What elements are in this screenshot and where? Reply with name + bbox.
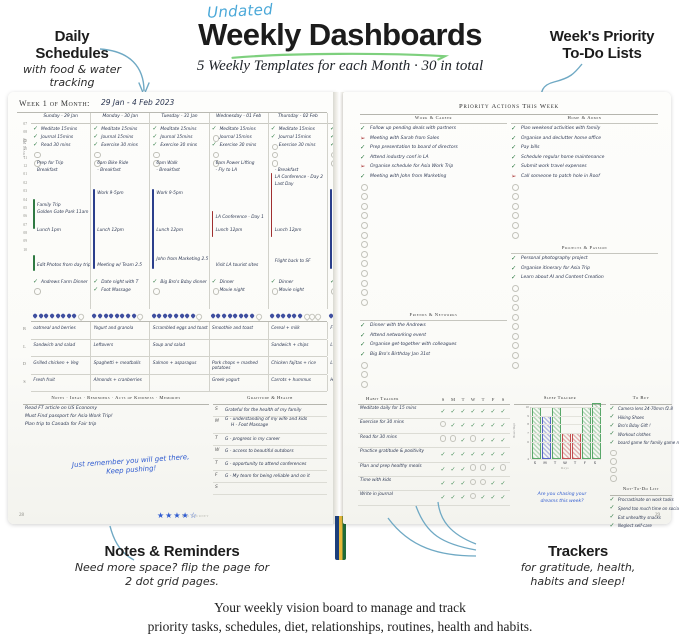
habit-check-icon[interactable]: ✓ (438, 448, 448, 461)
water-drop-icon[interactable] (211, 313, 215, 318)
empty-circle-icon[interactable] (512, 314, 519, 321)
empty-circle-icon[interactable] (512, 333, 519, 340)
page-title: Weekly Dashboards (160, 17, 520, 53)
buy-row[interactable]: ✓Procrastinate on work tasks (610, 496, 672, 505)
habit-empty-circle-icon[interactable] (448, 434, 458, 447)
habit-day-cells[interactable]: ✓✓✓✓ (438, 463, 508, 476)
habit-check-row[interactable]: ✓Journal 15mins (93, 134, 149, 142)
water-drop-icon[interactable] (233, 313, 237, 318)
water-drop-icon[interactable] (168, 313, 172, 318)
empty-circle-icon[interactable] (610, 467, 617, 474)
buy-row-empty[interactable] (610, 474, 672, 483)
habit-check-icon[interactable]: ✓ (498, 434, 508, 447)
meal-cell[interactable]: Sandwich and salad (31, 340, 90, 357)
meal-cell[interactable]: Smoothie and toast (209, 322, 268, 339)
water-drop-icon[interactable] (191, 313, 195, 318)
buy-row[interactable]: ✓Workout clothes (610, 431, 672, 440)
habit-day-cells[interactable]: ✓✓✓✓✓ (438, 477, 508, 490)
todo-row[interactable]: ✓Personal photography project (511, 254, 658, 264)
todo-row[interactable]: ✓Schedule regular home maintenance (511, 153, 658, 163)
todo-row-empty[interactable] (511, 230, 658, 240)
todo-row-empty[interactable] (511, 182, 658, 192)
habit-check-row[interactable]: ✓Meditate 15mins (152, 126, 208, 134)
habit-check-icon[interactable]: ✓ (438, 491, 448, 504)
empty-circle-icon[interactable] (512, 203, 519, 210)
habit-check-row[interactable] (212, 151, 268, 159)
water-drop-icon[interactable] (92, 313, 96, 318)
gratitude-row[interactable]: WG - access to beautiful outdoors (213, 446, 327, 458)
evening-check-row[interactable] (33, 287, 99, 295)
water-drop-icon[interactable] (50, 313, 54, 318)
gratitude-row[interactable]: TG - opportunity to attend conferences (213, 459, 327, 471)
habit-check-icon[interactable]: ✓ (498, 419, 508, 432)
todo-row[interactable]: ✓Big Bro's Birthday Jan 31st (360, 350, 507, 360)
buy-row[interactable]: ✓board game for family game night (610, 439, 672, 448)
habit-empty-circle-icon[interactable] (478, 477, 488, 490)
water-drop-icon[interactable] (115, 313, 119, 318)
habit-check-row[interactable]: ✓Meditate 15mins (212, 126, 268, 134)
todo-row-empty[interactable] (511, 302, 658, 312)
water-drop-icon[interactable] (39, 313, 43, 318)
todo-row-empty[interactable] (360, 268, 507, 278)
habit-tracker-row[interactable]: Exercise for 30 mins✓✓✓✓✓✓ (358, 419, 510, 433)
water-tracker-row[interactable] (31, 311, 327, 320)
todo-row-empty[interactable] (360, 230, 507, 240)
todo-row[interactable]: ✓Attend networking event (360, 331, 507, 341)
habit-check-row[interactable]: Journal 15mins (212, 134, 268, 142)
habit-tracker-row[interactable]: Practice gratitude & positivity✓✓✓✓✓✓✓ (358, 448, 510, 462)
todo-row[interactable]: ✓Organise and declutter home office (511, 134, 658, 144)
habit-day-cells[interactable]: ✓✓✓✓✓✓✓ (438, 448, 508, 461)
note-line[interactable]: Must Find passport for Asia Work Trip! (23, 413, 209, 421)
todo-row-empty[interactable] (360, 258, 507, 268)
habit-check-icon[interactable]: ✓ (438, 405, 448, 418)
empty-circle-icon[interactable] (512, 362, 519, 369)
habit-check-icon[interactable]: ✓ (448, 477, 458, 490)
habit-tracker-row[interactable]: Plan and prep healthy meals✓✓✓✓ (358, 463, 510, 477)
habit-check-row[interactable]: ✓Meditate 15mins (93, 126, 149, 134)
habit-check-icon[interactable]: ✓ (488, 405, 498, 418)
todo-row-empty[interactable] (511, 321, 658, 331)
todo-row-empty[interactable] (360, 369, 507, 379)
todo-row-empty[interactable] (511, 210, 658, 220)
water-drop-icon[interactable] (222, 313, 226, 318)
meal-cell[interactable]: Spaghetti + meatballs (90, 357, 149, 374)
habit-tracker-row[interactable]: Write in journal✓✓✓✓✓✓ (358, 491, 510, 505)
water-drop-icon[interactable] (255, 313, 259, 318)
habit-check-icon[interactable]: ✓ (488, 491, 498, 504)
habit-check-icon[interactable]: ✓ (458, 463, 468, 476)
habit-check-icon[interactable]: ✓ (468, 419, 478, 432)
evening-check-row[interactable]: ✓Andrews Farm Dinner (33, 279, 99, 287)
habit-check-icon[interactable]: ✓ (488, 434, 498, 447)
water-drop-icon[interactable] (120, 313, 124, 318)
empty-circle-icon[interactable] (610, 475, 617, 482)
habit-check-row[interactable]: ✓Exercise 30 mins (93, 142, 149, 150)
todo-row[interactable]: ✓Follow up pending deals with partners (360, 124, 507, 134)
todo-row[interactable]: ✓Pay bills (511, 143, 658, 153)
home-admin-list[interactable]: ✓Plan weekend activities with family✓Org… (511, 124, 658, 239)
water-drop-icon[interactable] (55, 313, 59, 318)
empty-circle-icon[interactable] (361, 184, 368, 191)
water-drop-icon[interactable] (281, 313, 285, 318)
todo-row[interactable]: ✓Submit work travel expenses (511, 162, 658, 172)
water-drop-icon[interactable] (126, 313, 130, 318)
habit-empty-circle-icon[interactable] (498, 463, 508, 476)
water-drop-icon[interactable] (292, 313, 296, 318)
meal-cell[interactable]: Sandwich + chips (268, 340, 327, 357)
habit-check-icon[interactable]: ✓ (458, 405, 468, 418)
water-drop-icon[interactable] (98, 313, 102, 318)
meal-cell[interactable] (149, 375, 208, 392)
habit-check-icon[interactable]: ✓ (478, 419, 488, 432)
meal-cell[interactable]: Scrambled eggs and toast (149, 322, 208, 339)
empty-circle-icon[interactable] (272, 152, 279, 159)
empty-circle-icon[interactable] (361, 289, 368, 296)
day-timeline[interactable]: 6am Bike Ride- BreakfastWork 9-5pmLunch … (93, 159, 150, 307)
habit-check-row[interactable]: ✓Journal 15mins (33, 134, 90, 142)
habit-check-icon[interactable]: ✓ (478, 491, 488, 504)
todo-row-empty[interactable] (511, 331, 658, 341)
habit-check-icon[interactable]: ✓ (458, 434, 468, 447)
meal-cell[interactable]: Cereal + milk (268, 322, 327, 339)
habit-empty-circle-icon[interactable] (468, 491, 478, 504)
water-drop-icon[interactable] (33, 313, 37, 318)
habit-tracker-row[interactable]: Meditate daily for 15 mins✓✓✓✓✓✓✓ (358, 405, 510, 419)
meal-cell[interactable]: Leftovers (90, 340, 149, 357)
water-drop-icon[interactable] (196, 313, 200, 318)
water-day[interactable] (31, 311, 90, 320)
buy-row-empty[interactable] (610, 448, 672, 457)
work-career-title: Work & Career (360, 115, 507, 124)
check-icon: ✓ (360, 331, 365, 341)
friends-networks-list[interactable]: ✓Dinner with the Andrews✓Attend networki… (360, 321, 507, 388)
habit-day-cells[interactable]: ✓✓✓✓ (438, 434, 508, 447)
water-drop-icon[interactable] (275, 313, 279, 318)
annotation-priority-lists: Week's Priority To-Do Lists (528, 28, 676, 62)
habit-tracker-row[interactable]: Time with kids✓✓✓✓✓ (358, 477, 510, 491)
water-drop-icon[interactable] (163, 313, 167, 318)
todo-row-empty[interactable] (511, 191, 658, 201)
not-to-do-list[interactable]: ✓Procrastinate on work tasks✓Spend too m… (610, 496, 672, 530)
habit-day-cells[interactable]: ✓✓✓✓✓✓ (438, 491, 508, 504)
water-day[interactable] (149, 311, 208, 320)
water-drop-icon[interactable] (298, 313, 302, 318)
gratitude-row[interactable]: SGrateful for the health of my family (213, 405, 327, 417)
meal-cell[interactable]: Carrots + hummus (268, 375, 327, 392)
empty-circle-icon[interactable] (512, 285, 519, 292)
habit-day-cells[interactable]: ✓✓✓✓✓✓ (438, 419, 508, 432)
todo-row-empty[interactable] (511, 350, 658, 360)
sleep-x-tick: F (580, 460, 590, 465)
habit-empty-circle-icon[interactable] (438, 419, 448, 432)
empty-circle-icon[interactable] (153, 152, 160, 159)
gratitude-row[interactable]: TG - progress in my career (213, 434, 327, 446)
meal-cell[interactable]: Salmon + asparagus (149, 357, 208, 374)
habit-empty-circle-icon[interactable] (438, 434, 448, 447)
water-drop-icon[interactable] (131, 313, 135, 318)
habit-check-icon[interactable]: ✓ (498, 448, 508, 461)
habit-check-icon[interactable]: ✓ (468, 448, 478, 461)
habit-check-icon[interactable]: ✓ (488, 419, 498, 432)
habit-check-row[interactable]: ✓Meditate 15mins (271, 126, 327, 134)
todo-row[interactable]: ✓Meeting with John from Marketing (360, 172, 507, 182)
empty-circle-icon[interactable] (213, 288, 220, 295)
water-drop-icon[interactable] (250, 313, 254, 318)
empty-circle-icon[interactable] (361, 241, 368, 248)
todo-row-empty[interactable] (360, 191, 507, 201)
empty-circle-icon[interactable] (361, 381, 368, 388)
habit-check-icon[interactable]: ✓ (448, 448, 458, 461)
habit-check-icon[interactable]: ✓ (448, 419, 458, 432)
habit-empty-circle-icon[interactable] (468, 477, 478, 490)
habit-check-row[interactable]: ✓Journal 15mins (271, 134, 327, 142)
habit-empty-circle-icon[interactable] (468, 434, 478, 447)
todo-row-empty[interactable] (360, 239, 507, 249)
meal-text: Greek yogurt (212, 377, 268, 383)
water-drop-icon[interactable] (315, 313, 319, 318)
water-drop-icon[interactable] (78, 313, 82, 318)
water-drop-icon[interactable] (270, 313, 274, 318)
todo-row[interactable]: ✓Prep presentation to board of directors (360, 143, 507, 153)
water-drop-icon[interactable] (244, 313, 248, 318)
habit-rows[interactable]: Meditate daily for 15 mins✓✓✓✓✓✓✓Exercis… (358, 405, 510, 506)
day-timeline[interactable]: 6am Power Lifting- Fly to LALA Conferenc… (212, 159, 269, 307)
empty-circle-icon[interactable] (512, 323, 519, 330)
day-timeline[interactable]: 6am Walk- BreakfastWork 9-5pmLunch 12pmJ… (152, 159, 209, 307)
todo-row-empty[interactable] (360, 249, 507, 259)
water-day[interactable] (209, 311, 268, 320)
empty-circle-icon[interactable] (361, 232, 368, 239)
note-line[interactable]: Plan trip to Canada for Fair trip (23, 421, 209, 429)
habit-check-icon[interactable]: ✓ (468, 405, 478, 418)
meal-cell[interactable]: Almonds + cranberries (90, 375, 149, 392)
todo-row-empty[interactable] (360, 278, 507, 288)
water-drop-icon[interactable] (179, 313, 183, 318)
habit-day-cells[interactable]: ✓✓✓✓✓✓✓ (438, 405, 508, 418)
timeline-event: Lunch 12pm (156, 228, 183, 234)
habit-check-row[interactable]: ✓Read 30 mins (33, 142, 90, 150)
habit-check-row[interactable]: ✓Journal 15mins (152, 134, 208, 142)
meal-cell[interactable]: Yogurt and granola (90, 322, 149, 339)
habit-check-icon[interactable]: ✓ (458, 419, 468, 432)
projects-passion-list[interactable]: ✓Personal photography project✓Organise i… (511, 254, 658, 369)
meal-cell[interactable]: Greek yogurt (209, 375, 268, 392)
empty-circle-icon[interactable] (34, 288, 41, 295)
water-day[interactable] (90, 311, 149, 320)
todo-row-empty[interactable] (360, 297, 507, 307)
day-timeline[interactable]: Prep for TripBreakfastFamily TripGolden … (33, 159, 90, 307)
todo-row-empty[interactable] (511, 312, 658, 322)
todo-row[interactable]: ✓Dinner with the Andrews (360, 321, 507, 331)
water-drop-icon[interactable] (67, 313, 71, 318)
todo-row-empty[interactable] (511, 293, 658, 303)
todo-row-empty[interactable] (511, 220, 658, 230)
todo-row-empty[interactable] (360, 210, 507, 220)
water-drop-icon[interactable] (157, 313, 161, 318)
empty-circle-icon[interactable] (512, 222, 519, 229)
todo-row[interactable]: ➢Meeting with Sarah from Sales (360, 134, 507, 144)
water-drop-icon[interactable] (109, 313, 113, 318)
water-drop-icon[interactable] (287, 313, 291, 318)
habit-check-icon[interactable]: ✓ (478, 405, 488, 418)
todo-row-empty[interactable] (360, 379, 507, 389)
buy-row[interactable]: ✓Bro's Bday Gift ! (610, 422, 672, 431)
meal-cell[interactable]: Pork chops + mashed potatoes (209, 357, 268, 374)
empty-circle-icon[interactable] (361, 270, 368, 277)
empty-circle-icon[interactable] (512, 295, 519, 302)
todo-row-empty[interactable] (360, 220, 507, 230)
todo-row-empty[interactable] (360, 182, 507, 192)
habit-check-icon[interactable]: ✓ (498, 491, 508, 504)
todo-row-empty[interactable] (360, 287, 507, 297)
habit-check-icon[interactable]: ✓ (438, 477, 448, 490)
todo-row-empty[interactable] (511, 201, 658, 211)
water-drop-icon[interactable] (227, 313, 231, 318)
timeline-event: Lunch 12pm (97, 228, 124, 234)
buy-row[interactable]: ✓Neglect self-care (610, 522, 672, 531)
todo-row[interactable]: ➢Organise schedule for Asia Work Trip (360, 162, 507, 172)
todo-row-empty[interactable] (360, 201, 507, 211)
habit-check-icon[interactable]: ✓ (498, 405, 508, 418)
empty-circle-icon[interactable] (361, 260, 368, 267)
habit-empty-circle-icon[interactable] (468, 463, 478, 476)
habit-check-icon[interactable]: ✓ (458, 491, 468, 504)
empty-circle-icon[interactable] (361, 203, 368, 210)
habit-check-icon[interactable]: ✓ (458, 448, 468, 461)
empty-circle-icon[interactable] (361, 251, 368, 258)
meal-cell[interactable]: Soup and salad (149, 340, 208, 357)
empty-circle-icon[interactable] (361, 212, 368, 219)
todo-row[interactable]: ✓Organise get-together with colleagues (360, 340, 507, 350)
empty-circle-icon[interactable] (361, 299, 368, 306)
to-buy-list[interactable]: ✓Camera lens 24-70mm f2.8✓Hiking Shoes✓B… (610, 405, 672, 482)
habit-check-icon[interactable]: ✓ (488, 448, 498, 461)
buy-row[interactable]: ✓Camera lens 24-70mm f2.8 (610, 405, 672, 414)
notes-lines[interactable]: Read FT article on US EconomyMust Find p… (23, 405, 209, 430)
habit-check-row[interactable]: ✓Meditate 15mins (33, 126, 90, 134)
empty-circle-icon[interactable] (512, 193, 519, 200)
empty-circle-icon[interactable] (512, 342, 519, 349)
work-career-list[interactable]: ✓Follow up pending deals with partners➢M… (360, 124, 507, 306)
habit-check-icon[interactable]: ✓ (448, 405, 458, 418)
meal-row-label: S (20, 379, 29, 384)
habit-check-icon[interactable]: ✓ (478, 434, 488, 447)
meal-cell[interactable] (209, 340, 268, 357)
habit-check-row[interactable]: ✓Exercise 30 mins (152, 142, 208, 150)
todo-row-empty[interactable] (360, 360, 507, 370)
empty-circle-icon[interactable] (512, 232, 519, 239)
gratitude-rows[interactable]: SGrateful for the health of my familyMG … (213, 405, 327, 495)
meal-cell[interactable]: Chicken fajitas + rice (268, 357, 327, 374)
week-date-range[interactable]: 29 Jan - 4 Feb 2023 (101, 98, 174, 107)
gratitude-row[interactable]: S (213, 483, 327, 495)
water-drop-icon[interactable] (137, 313, 141, 318)
habit-empty-circle-icon[interactable] (478, 463, 488, 476)
habit-check-icon[interactable]: ✓ (478, 448, 488, 461)
buy-row[interactable]: ✓Spend too much time on social media (610, 505, 672, 514)
habit-check-row[interactable] (152, 151, 208, 159)
habit-check-icon[interactable]: ✓ (498, 477, 508, 490)
habit-check-row[interactable] (271, 151, 327, 159)
empty-circle-icon[interactable] (361, 362, 368, 369)
habit-check-icon[interactable]: ✓ (488, 463, 498, 476)
habit-check-icon[interactable]: ✓ (438, 463, 448, 476)
water-drop-icon[interactable] (216, 313, 220, 318)
water-drop-icon[interactable] (303, 313, 307, 318)
water-day[interactable] (268, 311, 327, 320)
buy-row-empty[interactable] (610, 457, 672, 466)
empty-circle-icon[interactable] (512, 212, 519, 219)
buy-row-empty[interactable] (610, 465, 672, 474)
gratitude-row[interactable]: FG - My team for being reliable and on i… (213, 471, 327, 483)
todo-row-empty[interactable] (511, 340, 658, 350)
empty-circle-icon[interactable] (361, 193, 368, 200)
todo-row-empty[interactable] (511, 283, 658, 293)
habit-check-icon[interactable]: ✓ (448, 463, 458, 476)
empty-circle-icon[interactable] (213, 152, 220, 159)
day-timeline[interactable]: - BreakfastLA Conference - Day 2Last Day… (271, 159, 328, 307)
todo-row-empty[interactable] (511, 360, 658, 370)
todo-row[interactable]: ✓Organise itinerary for Asia Trip (511, 264, 658, 274)
empty-circle-icon[interactable] (361, 371, 368, 378)
buy-row[interactable]: ✓Hiking Shoes (610, 414, 672, 423)
empty-circle-icon[interactable] (153, 288, 160, 295)
habit-check-icon[interactable]: ✓ (488, 477, 498, 490)
water-drop-icon[interactable] (239, 313, 243, 318)
meal-cell[interactable]: oatmeal and berries (31, 322, 90, 339)
meal-cell[interactable]: Fresh fruit (31, 375, 90, 392)
buy-row[interactable]: ✓Eat unhealthy snacks (610, 514, 672, 523)
water-drop-icon[interactable] (185, 313, 189, 318)
todo-row[interactable]: ✓Learn about AI and Content Creation (511, 273, 658, 283)
meal-cell[interactable]: Grilled chicken + Veg (31, 357, 90, 374)
water-drop-icon[interactable] (72, 313, 76, 318)
empty-circle-icon[interactable] (361, 280, 368, 287)
note-line[interactable]: Read FT article on US Economy (23, 405, 209, 413)
empty-circle-icon[interactable] (361, 222, 368, 229)
habit-check-icon[interactable]: ✓ (458, 477, 468, 490)
water-drop-icon[interactable] (309, 313, 313, 318)
water-drop-icon[interactable] (174, 313, 178, 318)
water-drop-icon[interactable] (151, 313, 155, 318)
empty-circle-icon[interactable] (512, 184, 519, 191)
timeline-event: Flight back to SF (275, 259, 311, 265)
todo-row[interactable]: ➢Call someone to patch hole in Roof (511, 172, 658, 182)
empty-circle-icon[interactable] (610, 450, 617, 457)
habit-check-icon[interactable]: ✓ (448, 491, 458, 504)
empty-circle-icon[interactable] (610, 458, 617, 465)
todo-row[interactable]: ✓Attend industry conf in LA (360, 153, 507, 163)
habit-check-row[interactable] (93, 151, 149, 159)
empty-circle-icon[interactable] (512, 352, 519, 359)
empty-circle-icon[interactable] (272, 144, 279, 151)
empty-circle-icon[interactable] (512, 304, 519, 311)
water-drop-icon[interactable] (61, 313, 65, 318)
gratitude-row[interactable]: MG - understanding of my wife and kidsH … (213, 417, 327, 434)
empty-circle-icon[interactable] (272, 288, 279, 295)
empty-circle-icon[interactable] (94, 152, 101, 159)
habit-check-row[interactable]: Exercise 30 mins (271, 142, 327, 150)
habit-tracker-row[interactable]: Read for 30 mins✓✓✓✓ (358, 434, 510, 448)
todo-row[interactable]: ✓Plan weekend activities with family (511, 124, 658, 134)
empty-circle-icon[interactable] (34, 152, 41, 159)
habit-check-row[interactable] (33, 151, 90, 159)
habit-check-row[interactable]: ✓Exercise 30 mins (212, 142, 268, 150)
water-drop-icon[interactable] (103, 313, 107, 318)
habit-check-label: Exercise 30 mins (279, 142, 327, 150)
water-drop-icon[interactable] (44, 313, 48, 318)
